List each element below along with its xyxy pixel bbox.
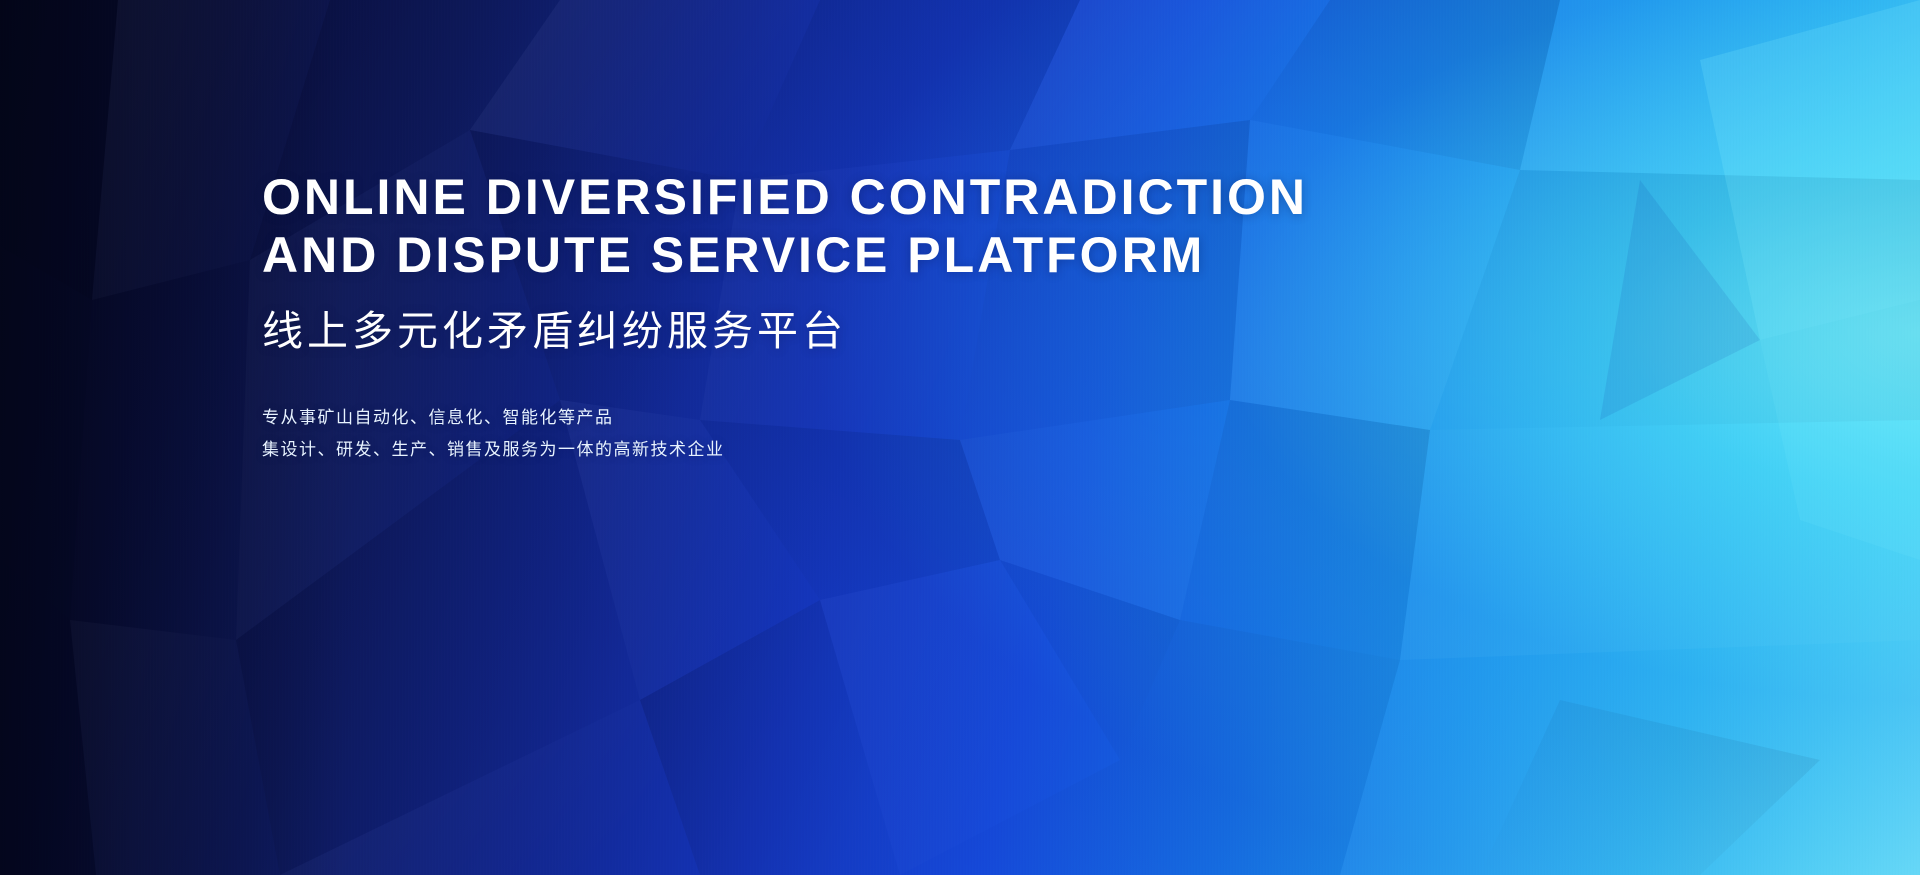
- hero-description-line-1: 专从事矿山自动化、信息化、智能化等产品: [262, 402, 1382, 434]
- hero-title-chinese: 线上多元化矛盾纠纷服务平台: [262, 306, 1382, 356]
- hero-banner: ONLINE DIVERSIFIED CONTRADICTION AND DIS…: [0, 0, 1920, 875]
- hero-title-english: ONLINE DIVERSIFIED CONTRADICTION AND DIS…: [262, 168, 1382, 284]
- hero-description-list: 专从事矿山自动化、信息化、智能化等产品 集设计、研发、生产、销售及服务为一体的高…: [262, 402, 1382, 466]
- hero-content: ONLINE DIVERSIFIED CONTRADICTION AND DIS…: [262, 168, 1382, 466]
- hero-description-line-2: 集设计、研发、生产、销售及服务为一体的高新技术企业: [262, 434, 1382, 466]
